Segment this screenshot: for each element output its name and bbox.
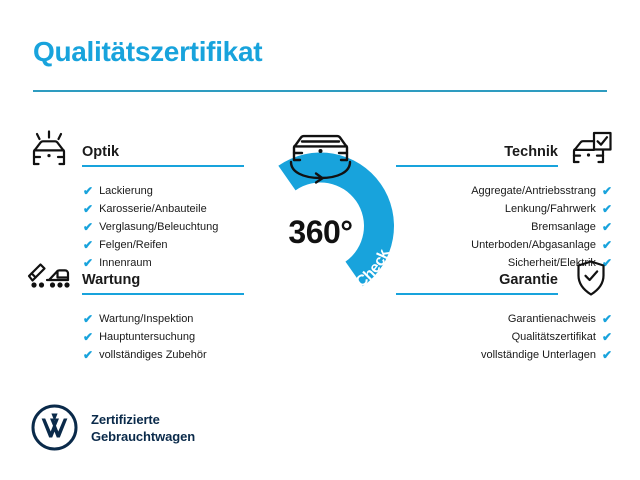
badge-360-value: 360° [228, 214, 413, 251]
section-title-wrap-technik: Technik [396, 128, 568, 167]
list-item: ✔Unterboden/Abgasanlage [396, 236, 614, 254]
list-item: ✔Qualitätszertifikat [396, 328, 614, 346]
check-icon: ✔ [83, 221, 93, 233]
section-header-technik: Technik [396, 128, 614, 176]
list-item: ✔Aggregate/Antriebsstrang [396, 182, 614, 200]
check-icon: ✔ [602, 331, 612, 343]
car-shine-icon [26, 128, 72, 172]
title-divider [33, 90, 607, 92]
brand-lockup: Zertifizierte Gebrauchtwagen [31, 404, 195, 451]
list-item-label: Verglasung/Beleuchtung [99, 218, 218, 236]
list-item-label: Qualitätszertifikat [512, 328, 596, 346]
section-wartung: Wartung ✔Wartung/Inspektion ✔Hauptunters… [26, 256, 244, 380]
list-item: ✔vollständige Unterlagen [396, 346, 614, 364]
check-icon: ✔ [602, 349, 612, 361]
list-item: ✔Wartung/Inspektion [26, 310, 244, 328]
check-icon: ✔ [83, 313, 93, 325]
section-title-wartung: Wartung [82, 272, 244, 289]
list-item: ✔vollständiges Zubehör [26, 346, 244, 364]
list-item: ✔Hauptuntersuchung [26, 328, 244, 346]
list-item: ✔Garantienachweis [396, 310, 614, 328]
check-icon: ✔ [83, 239, 93, 251]
list-item-label: Unterboden/Abgasanlage [471, 236, 596, 254]
checklist-garantie: ✔Garantienachweis ✔Qualitätszertifikat ✔… [396, 310, 614, 364]
page-title: Qualitätszertifikat [33, 36, 262, 68]
list-item: ✔Bremsanlage [396, 218, 614, 236]
list-item-label: Karosserie/Anbauteile [99, 200, 207, 218]
check-icon: ✔ [83, 185, 93, 197]
section-title-optik: Optik [82, 144, 244, 161]
list-item: ✔Felgen/Reifen [26, 236, 244, 254]
section-title-technik: Technik [396, 144, 558, 161]
check-icon: ✔ [83, 349, 93, 361]
brand-line-2: Gebrauchtwagen [91, 428, 195, 445]
list-item-label: vollständige Unterlagen [481, 346, 596, 364]
section-title-wrap-garantie: Garantie [396, 256, 568, 295]
section-header-wartung: Wartung [26, 256, 244, 304]
list-item: ✔Karosserie/Anbauteile [26, 200, 244, 218]
car-service-pen-icon [26, 256, 72, 300]
section-title-wrap-wartung: Wartung [72, 256, 244, 295]
vw-logo [31, 404, 78, 451]
check-icon: ✔ [602, 185, 612, 197]
section-title-wrap-optik: Optik [72, 128, 244, 167]
shield-check-icon [568, 256, 614, 300]
check-icon: ✔ [83, 331, 93, 343]
list-item-label: Bremsanlage [531, 218, 596, 236]
section-underline-technik [396, 165, 558, 167]
brand-text: Zertifizierte Gebrauchtwagen [91, 411, 195, 445]
list-item: ✔Lenkung/Fahrwerk [396, 200, 614, 218]
checklist-wartung: ✔Wartung/Inspektion ✔Hauptuntersuchung ✔… [26, 310, 244, 364]
check-icon: ✔ [602, 313, 612, 325]
list-item-label: Aggregate/Antriebsstrang [471, 182, 596, 200]
section-header-garantie: Garantie [396, 256, 614, 304]
list-item-label: Felgen/Reifen [99, 236, 168, 254]
gebrauchtwagen-check-badge: Gebrauchtwagen-Check 360° [228, 118, 413, 310]
list-item-label: Lackierung [99, 182, 153, 200]
list-item-label: Lenkung/Fahrwerk [505, 200, 596, 218]
section-title-garantie: Garantie [396, 272, 558, 289]
brand-line-1: Zertifizierte [91, 411, 195, 428]
section-underline-garantie [396, 293, 558, 295]
section-garantie: Garantie ✔Garantienachweis ✔Qualitätszer… [396, 256, 614, 380]
check-icon: ✔ [83, 203, 93, 215]
quality-certificate-page: Qualitätszertifikat [0, 0, 640, 480]
list-item: ✔Lackierung [26, 182, 244, 200]
section-header-optik: Optik [26, 128, 244, 176]
list-item-label: vollständiges Zubehör [99, 346, 207, 364]
list-item-label: Garantienachweis [508, 310, 596, 328]
check-icon: ✔ [602, 221, 612, 233]
section-underline-wartung [82, 293, 244, 295]
check-icon: ✔ [602, 203, 612, 215]
list-item: ✔Verglasung/Beleuchtung [26, 218, 244, 236]
check-icon: ✔ [602, 239, 612, 251]
list-item-label: Wartung/Inspektion [99, 310, 193, 328]
section-underline-optik [82, 165, 244, 167]
car-checkbox-icon [568, 128, 614, 172]
list-item-label: Hauptuntersuchung [99, 328, 195, 346]
